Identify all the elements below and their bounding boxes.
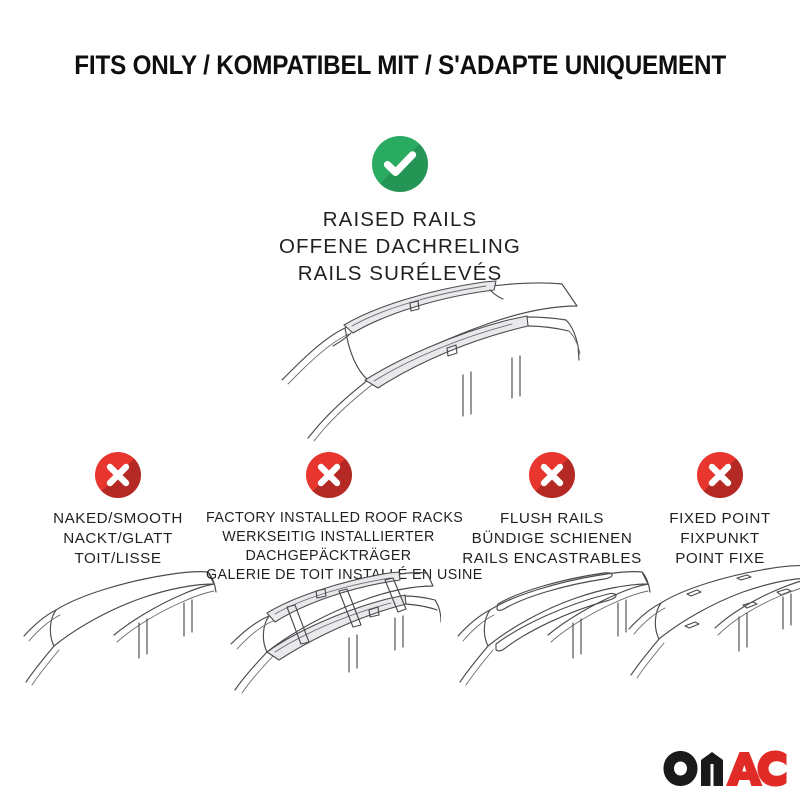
incompatible-label: NAKED/SMOOTH NACKT/GLATT TOIT/LISSE bbox=[18, 509, 218, 570]
car-roof-with-raised-rails-illustration bbox=[222, 276, 582, 446]
incompatible-label: FLUSH RAILS BÜNDIGE SCHIENEN RAILS ENCAS… bbox=[452, 509, 652, 570]
incompatible-item-flush-rails: FLUSH RAILS BÜNDIGE SCHIENEN RAILS ENCAS… bbox=[452, 452, 652, 570]
label-line-en: NAKED/SMOOTH bbox=[18, 509, 218, 529]
x-circle-icon bbox=[529, 452, 575, 498]
page-title-text: FITS ONLY / KOMPATIBEL MIT / S'ADAPTE UN… bbox=[74, 52, 726, 79]
compatible-label-line-en: RAISED RAILS bbox=[0, 206, 800, 233]
check-circle-icon bbox=[372, 136, 428, 192]
compatible-section: RAISED RAILS OFFENE DACHRELING RAILS SUR… bbox=[0, 136, 800, 287]
label-line-en: FLUSH RAILS bbox=[452, 509, 652, 529]
x-circle-icon bbox=[306, 452, 352, 498]
omac-wordmark bbox=[663, 750, 787, 788]
x-circle-icon bbox=[697, 452, 743, 498]
car-roof-with-flush-rails-illustration bbox=[452, 562, 652, 697]
car-roof-with-fixed-points-illustration bbox=[625, 557, 800, 692]
incompatible-item-factory-roof-racks: FACTORY INSTALLED ROOF RACKS WERKSEITIG … bbox=[206, 452, 451, 585]
logo-letter-m bbox=[701, 752, 723, 786]
x-mark-glyph bbox=[95, 452, 141, 498]
x-mark-glyph bbox=[306, 452, 352, 498]
incompatible-section: NAKED/SMOOTH NACKT/GLATT TOIT/LISSE bbox=[0, 452, 800, 702]
car-roof-with-factory-crossbars-illustration bbox=[217, 560, 441, 705]
label-line-de: FIXPUNKT bbox=[640, 529, 800, 549]
label-line-de: NACKT/GLATT bbox=[18, 529, 218, 549]
car-roof-naked-smooth-illustration bbox=[18, 562, 218, 697]
logo-letter-o bbox=[664, 751, 698, 786]
label-line-en: FACTORY INSTALLED ROOF RACKS bbox=[206, 509, 451, 528]
incompatible-item-fixed-point: FIXED POINT FIXPUNKT POINT FIXE bbox=[640, 452, 800, 570]
incompatible-item-naked-smooth: NAKED/SMOOTH NACKT/GLATT TOIT/LISSE bbox=[18, 452, 218, 570]
x-circle-icon bbox=[95, 452, 141, 498]
label-line-en: FIXED POINT bbox=[640, 509, 800, 529]
omac-logo bbox=[663, 750, 787, 788]
logo-letter-a bbox=[726, 752, 763, 786]
compatible-label-line-de: OFFENE DACHRELING bbox=[0, 233, 800, 260]
logo-letter-c bbox=[758, 751, 787, 787]
x-mark-glyph bbox=[529, 452, 575, 498]
label-line-de: BÜNDIGE SCHIENEN bbox=[452, 529, 652, 549]
x-mark-glyph bbox=[697, 452, 743, 498]
check-mark-glyph bbox=[372, 136, 428, 192]
page-title: FITS ONLY / KOMPATIBEL MIT / S'ADAPTE UN… bbox=[0, 52, 800, 79]
label-line-de-1: WERKSEITIG INSTALLIERTER bbox=[206, 528, 451, 547]
compatible-label: RAISED RAILS OFFENE DACHRELING RAILS SUR… bbox=[0, 206, 800, 287]
